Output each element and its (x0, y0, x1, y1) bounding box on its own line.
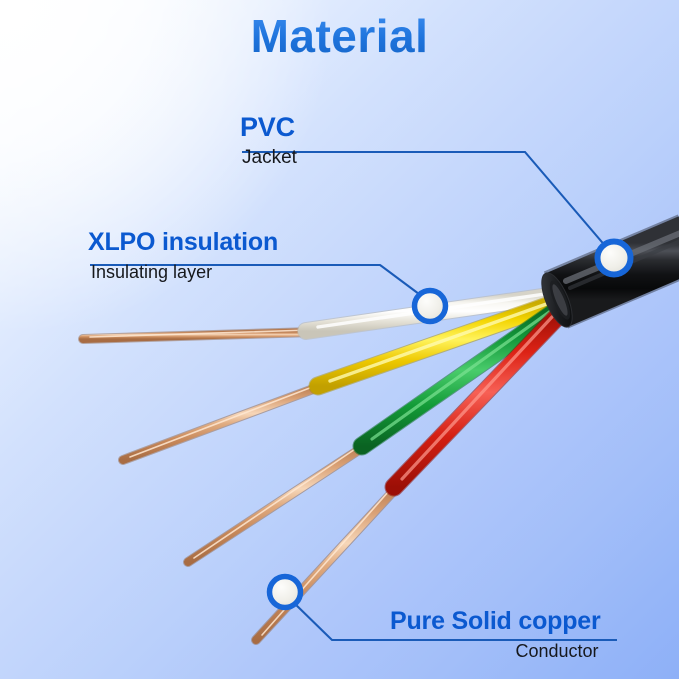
callout-subtitle-copper: Conductor (390, 636, 601, 662)
green-wire (188, 310, 556, 562)
diagram-canvas: Material PVC Jacket XLPO insulation Insu… (0, 0, 679, 679)
callout-title-pvc: PVC (240, 112, 297, 143)
callout-title-copper: Pure Solid copper (390, 607, 601, 636)
callout-label-copper: Pure Solid copper Conductor (390, 607, 601, 662)
callout-marker-xlpo (415, 291, 446, 322)
cable-illustration (0, 0, 679, 679)
callout-label-xlpo: XLPO insulation Insulating layer (88, 228, 278, 283)
callout-marker-copper (270, 577, 301, 608)
callout-label-pvc: PVC Jacket (240, 112, 297, 169)
page-title: Material (0, 9, 679, 63)
callout-subtitle-xlpo: Insulating layer (88, 257, 278, 283)
callout-marker-pvc (598, 242, 631, 275)
callout-subtitle-pvc: Jacket (240, 143, 297, 169)
callout-title-xlpo: XLPO insulation (88, 228, 278, 257)
callout-leader-lines (90, 152, 617, 640)
